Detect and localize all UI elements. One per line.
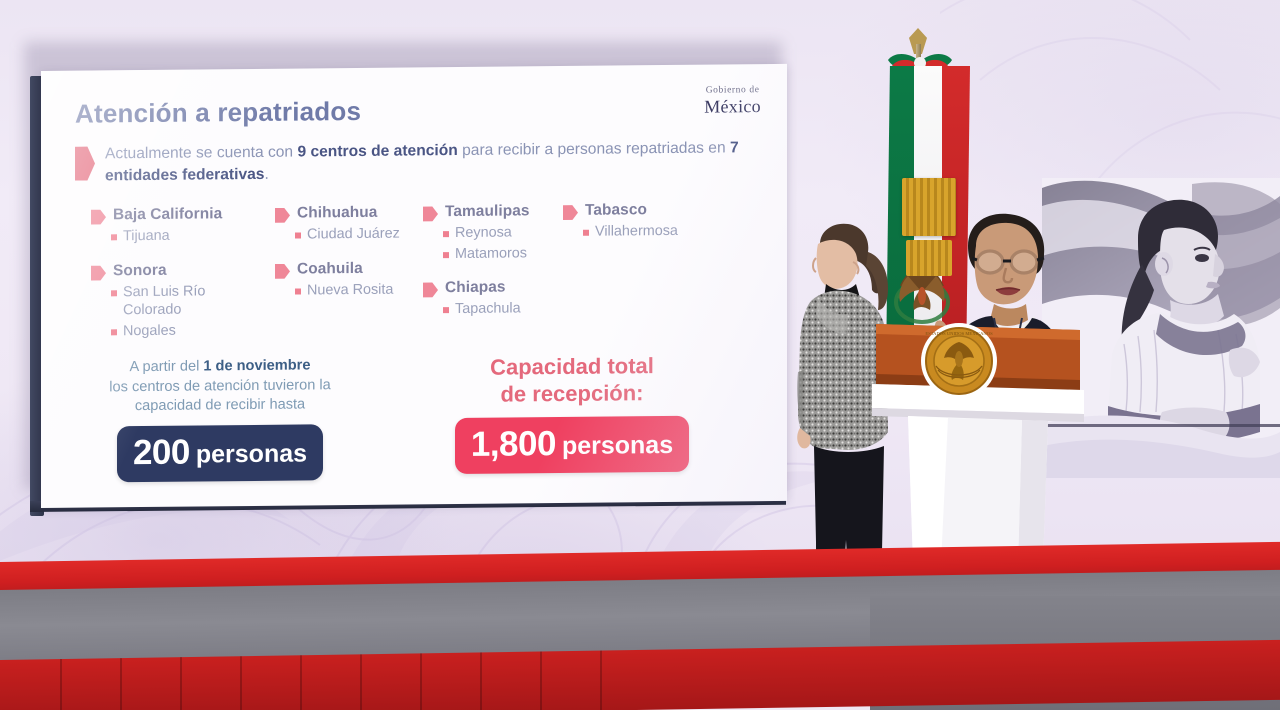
logo-line-2: México — [704, 97, 761, 116]
city-name: Nueva Rosita — [307, 281, 393, 300]
city-name: Ciudad Juárez — [307, 225, 400, 244]
capacity-1800-pill: 1,800personas — [455, 415, 689, 473]
state-name: Chihuahua — [297, 204, 377, 223]
intro-bold-1: 9 centros de atención — [297, 142, 457, 161]
square-bullet-icon — [295, 289, 301, 295]
city-name: Villahermosa — [595, 222, 678, 241]
square-bullet-icon — [443, 252, 449, 258]
square-bullet-icon — [111, 330, 117, 336]
intro-part-3: . — [264, 166, 268, 183]
square-bullet-icon — [443, 231, 449, 237]
square-bullet-icon — [583, 230, 589, 236]
slide-intro-text: Actualmente se cuenta con 9 centros de a… — [105, 137, 745, 187]
lead-part-2: los centros de atención tuvieron la capa… — [109, 377, 330, 415]
capacity-total-title-line1: Capacidad total — [490, 353, 654, 380]
city-name: Tapachula — [455, 300, 521, 319]
projection-screen: Gobierno de México Atención a repatriado… — [14, 32, 774, 484]
arrow-bullet-icon — [275, 208, 290, 223]
presentation-slide: Gobierno de México Atención a repatriado… — [41, 64, 787, 508]
arrow-bullet-icon — [423, 206, 438, 221]
arrow-bullet-icon — [75, 146, 95, 180]
square-bullet-icon — [295, 233, 301, 239]
city-name: San Luis Río Colorado — [123, 282, 241, 319]
intro-part-1: Actualmente se cuenta con — [105, 144, 297, 163]
intro-part-2: para recibir a personas repatriadas en — [458, 139, 730, 159]
mexican-coat-of-arms-seal: ESTADOS UNIDOS MEXICANOS — [920, 322, 998, 400]
square-bullet-icon — [111, 291, 117, 297]
city-name: Reynosa — [455, 224, 512, 243]
city-name: Matamoros — [455, 245, 527, 264]
state-block-tabasco: Tabasco Villahermosa — [563, 200, 733, 242]
capacity-200-value: 200 — [133, 433, 190, 473]
capacity-total-title: Capacidad total de recepción: — [387, 352, 757, 409]
broadcast-frame: ESTADOS UNIDOS MEXICANOS Gobierno de Méx… — [0, 0, 1280, 710]
lead-part-1: A partir del — [130, 358, 204, 375]
state-name: Coahuila — [297, 260, 363, 279]
gobierno-de-mexico-logo: Gobierno de México — [704, 86, 761, 115]
slide-title: Atención a repatriados — [75, 92, 757, 130]
square-bullet-icon — [443, 307, 449, 313]
capacity-lead-text: A partir del 1 de noviembre los centros … — [75, 356, 365, 418]
state-block-chiapas: Chiapas Tapachula — [423, 277, 573, 318]
square-bullet-icon — [111, 235, 117, 241]
arrow-bullet-icon — [563, 205, 578, 220]
slide-intro: Actualmente se cuenta con 9 centros de a… — [75, 137, 757, 188]
state-name: Tamaulipas — [445, 202, 530, 221]
arrow-bullet-icon — [91, 266, 106, 281]
capacity-total-title-line2: de recepción: — [500, 380, 643, 406]
wall-floral-pattern-icon-secondary — [940, 0, 1280, 200]
arrow-bullet-icon — [91, 210, 106, 225]
state-block-baja-california: Baja California Tijuana — [91, 204, 271, 246]
state-name: Tabasco — [585, 201, 647, 220]
state-block-tamaulipas: Tamaulipas Reynosa Matamoros — [423, 201, 573, 263]
logo-line-1: Gobierno de — [704, 86, 761, 96]
city-name: Nogales — [123, 322, 176, 341]
svg-text:ESTADOS UNIDOS MEXICANOS: ESTADOS UNIDOS MEXICANOS — [925, 331, 993, 336]
capacity-total: Capacidad total de recepción: 1,800perso… — [383, 352, 757, 480]
arrow-bullet-icon — [275, 264, 290, 279]
arrow-bullet-icon — [423, 282, 438, 297]
state-name: Baja California — [113, 205, 222, 224]
state-name: Sonora — [113, 262, 167, 281]
states-list: Baja California Tijuana Sonora San Luis … — [75, 199, 757, 354]
state-block-coahuila: Coahuila Nueva Rosita — [275, 258, 445, 300]
capacity-section: A partir del 1 de noviembre los centros … — [75, 352, 757, 483]
capacity-200-unit: personas — [196, 440, 307, 469]
state-block-sonora: Sonora San Luis Río Colorado Nogales — [91, 260, 271, 341]
state-name: Chiapas — [445, 278, 506, 297]
state-block-chihuahua: Chihuahua Ciudad Juárez — [275, 202, 445, 244]
capacity-200-pill: 200personas — [117, 424, 323, 482]
lead-bold: 1 de noviembre — [203, 357, 310, 374]
city-name: Tijuana — [123, 227, 170, 245]
capacity-1800-value: 1,800 — [471, 424, 556, 464]
capacity-1800-unit: personas — [562, 431, 673, 460]
capacity-from-november: A partir del 1 de noviembre los centros … — [75, 356, 365, 483]
